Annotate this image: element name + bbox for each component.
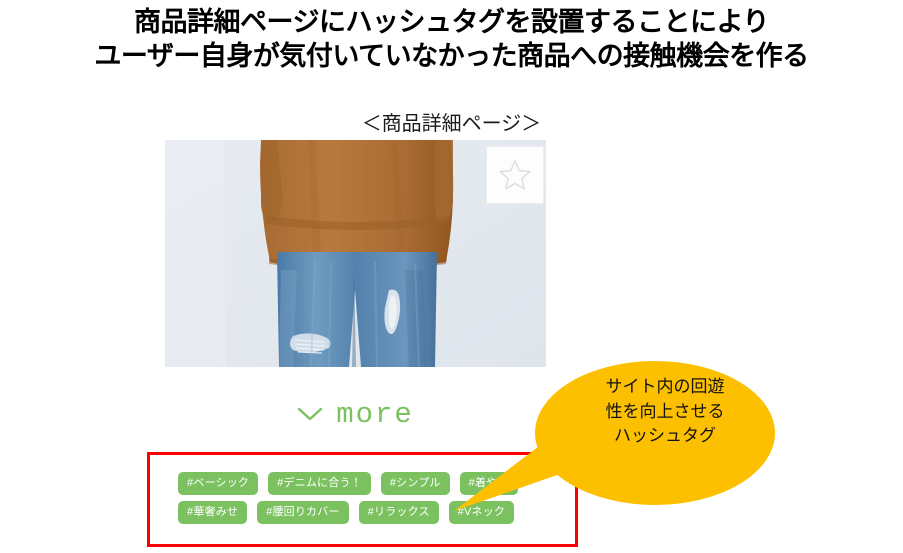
hashtag-chip[interactable]: #Vネック [449, 501, 514, 524]
favorite-button[interactable] [486, 146, 544, 204]
callout-line-2: 性を向上させる [570, 400, 760, 425]
callout-text: サイト内の回遊 性を向上させる ハッシュタグ [570, 375, 760, 449]
hashtag-chip[interactable]: #腰回りカバー [257, 501, 349, 524]
hashtag-row: #華奢みせ #腰回りカバー #リラックス #Vネック [178, 501, 538, 524]
callout-line-1: サイト内の回遊 [570, 375, 760, 400]
more-button-label: more [336, 400, 414, 429]
callout-line-3: ハッシュタグ [570, 424, 760, 449]
chevron-down-icon [297, 406, 323, 422]
more-button[interactable]: more [165, 398, 546, 430]
hashtag-chip[interactable]: #シンプル [381, 472, 450, 495]
hashtag-chip[interactable]: #華奢みせ [178, 501, 247, 524]
hashtag-row: #ベーシック #デニムに合う！ #シンプル #着やせ [178, 472, 538, 495]
hashtag-chip[interactable]: #ベーシック [178, 472, 258, 495]
page-title: 商品詳細ページにハッシュタグを設置することにより ユーザー自身が気付いていなかっ… [0, 6, 903, 74]
page-title-line-2: ユーザー自身が気付いていなかった商品への接触機会を作る [0, 40, 903, 74]
hashtag-chip[interactable]: #着やせ [460, 472, 518, 495]
page-title-line-1: 商品詳細ページにハッシュタグを設置することにより [0, 6, 903, 40]
hashtag-chip[interactable]: #リラックス [359, 501, 439, 524]
section-subtitle: ＜商品詳細ページ＞ [0, 107, 903, 136]
hashtag-chip[interactable]: #デニムに合う！ [268, 472, 371, 495]
hashtag-list: #ベーシック #デニムに合う！ #シンプル #着やせ #華奢みせ #腰回りカバー… [178, 472, 538, 530]
star-icon [498, 158, 532, 192]
